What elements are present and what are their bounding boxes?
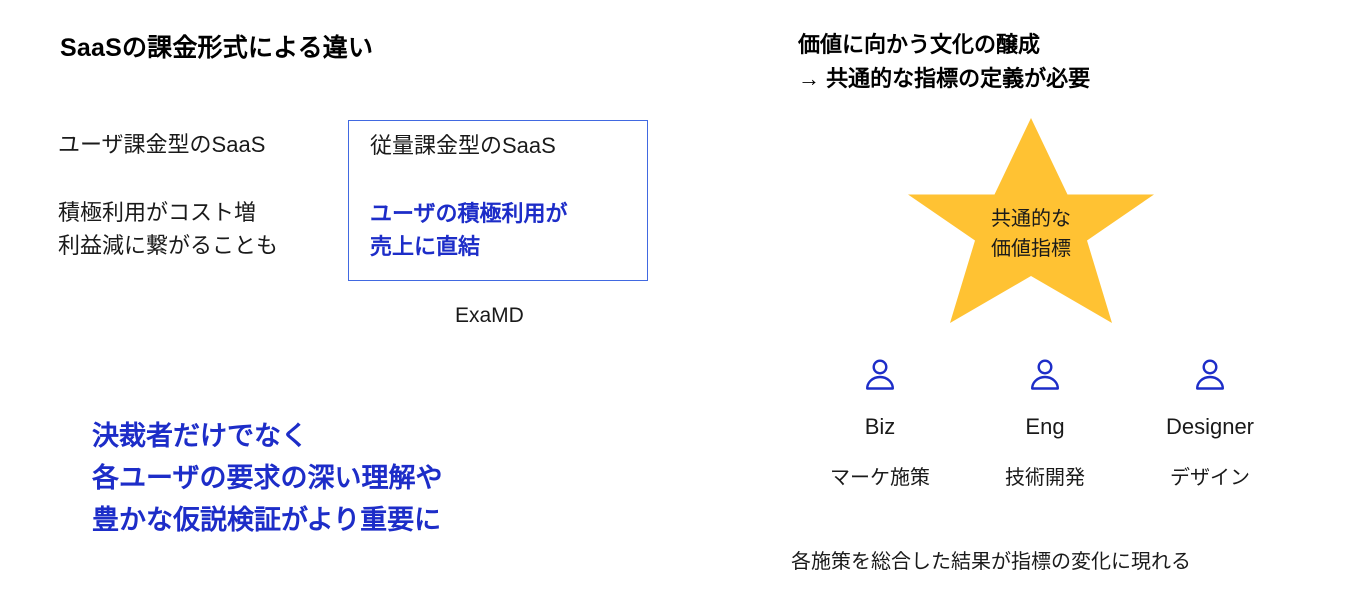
- role-task-biz: マーケ施策: [800, 461, 960, 490]
- role-name-designer: Designer: [1130, 414, 1290, 440]
- left-conclusion-text: 決裁者だけでなく 各ユーザの要求の深い理解や 豊かな仮説検証がより重要に: [92, 415, 442, 541]
- role-column-eng: Eng 技術開発: [965, 358, 1125, 490]
- person-icon: [1028, 358, 1062, 392]
- role-column-designer: Designer デザイン: [1130, 358, 1290, 490]
- usage-billing-highlight-line-2: 売上に直結: [370, 230, 568, 263]
- right-section-title-line-2: → 共通的な指標の定義が必要: [798, 62, 1090, 96]
- usage-billing-highlight-line-1: ユーザの積極利用が: [370, 197, 568, 230]
- usage-billing-box-title: 従量課金型のSaaS: [370, 128, 556, 160]
- product-label-examd: ExaMD: [455, 304, 524, 328]
- slide-canvas: SaaSの課金形式による違い ユーザ課金型のSaaS 積極利用がコスト増 利益減…: [0, 0, 1352, 612]
- user-billing-label: ユーザ課金型のSaaS: [58, 127, 265, 159]
- left-conclusion-line-3: 豊かな仮説検証がより重要に: [92, 499, 442, 541]
- role-task-designer: デザイン: [1130, 461, 1290, 490]
- usage-billing-box: 従量課金型のSaaS ユーザの積極利用が 売上に直結: [348, 120, 648, 281]
- right-section-title-line-1: 価値に向かう文化の醸成: [798, 28, 1090, 62]
- right-footnote: 各施策を総合した結果が指標の変化に現れる: [791, 545, 1191, 574]
- person-icon: [863, 358, 897, 392]
- role-name-eng: Eng: [965, 414, 1125, 440]
- user-billing-detail-line-2: 利益減に繋がることも: [58, 229, 278, 262]
- role-name-biz: Biz: [800, 414, 960, 440]
- left-section-title: SaaSの課金形式による違い: [60, 28, 373, 64]
- role-task-eng: 技術開発: [965, 461, 1125, 490]
- person-icon: [1193, 358, 1227, 392]
- star-icon: [908, 118, 1154, 340]
- user-billing-detail: 積極利用がコスト増 利益減に繋がることも: [58, 196, 278, 262]
- user-billing-detail-line-1: 積極利用がコスト増: [58, 196, 278, 229]
- right-section-title: 価値に向かう文化の醸成 → 共通的な指標の定義が必要: [798, 28, 1090, 96]
- left-conclusion-line-2: 各ユーザの要求の深い理解や: [92, 457, 442, 499]
- usage-billing-box-highlight: ユーザの積極利用が 売上に直結: [370, 197, 568, 263]
- roles-row: Biz マーケ施策 Eng 技術開発 Designer デザイン: [800, 358, 1290, 490]
- common-value-metric-star: 共通的な 価値指標: [908, 118, 1154, 340]
- role-column-biz: Biz マーケ施策: [800, 358, 960, 490]
- left-conclusion-line-1: 決裁者だけでなく: [92, 415, 442, 457]
